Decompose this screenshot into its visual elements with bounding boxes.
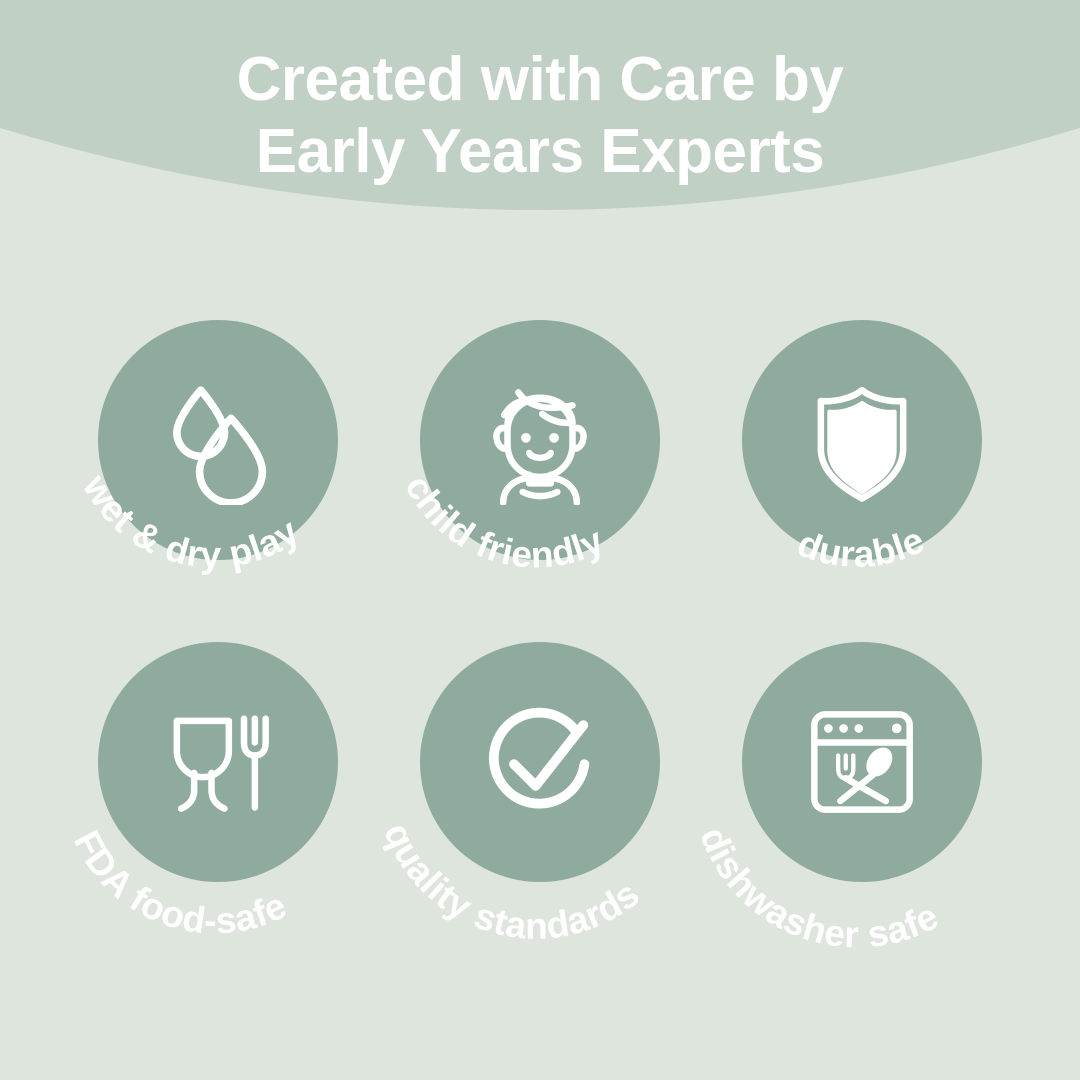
badge-grid: wet & dry play: [98, 320, 982, 882]
badge-child-friendly[interactable]: child friendly: [420, 320, 660, 560]
glass-fork-icon: [98, 642, 338, 882]
child-face-icon: [420, 320, 660, 560]
dishwasher-icon: [742, 642, 982, 882]
page-title: Created with Care by Early Years Experts: [0, 44, 1080, 188]
promo-graphic: Created with Care by Early Years Experts…: [0, 0, 1080, 1080]
badge-fda-food-safe[interactable]: FDA food-safe: [98, 642, 338, 882]
badge-dishwasher-safe[interactable]: dishwasher safe: [742, 642, 982, 882]
badge-quality-standards[interactable]: quality standards: [420, 642, 660, 882]
shield-icon: [742, 320, 982, 560]
badge-durable[interactable]: durable: [742, 320, 982, 560]
badge-wet-dry-play[interactable]: wet & dry play: [98, 320, 338, 560]
water-drops-icon: [98, 320, 338, 560]
check-circle-icon: [420, 642, 660, 882]
